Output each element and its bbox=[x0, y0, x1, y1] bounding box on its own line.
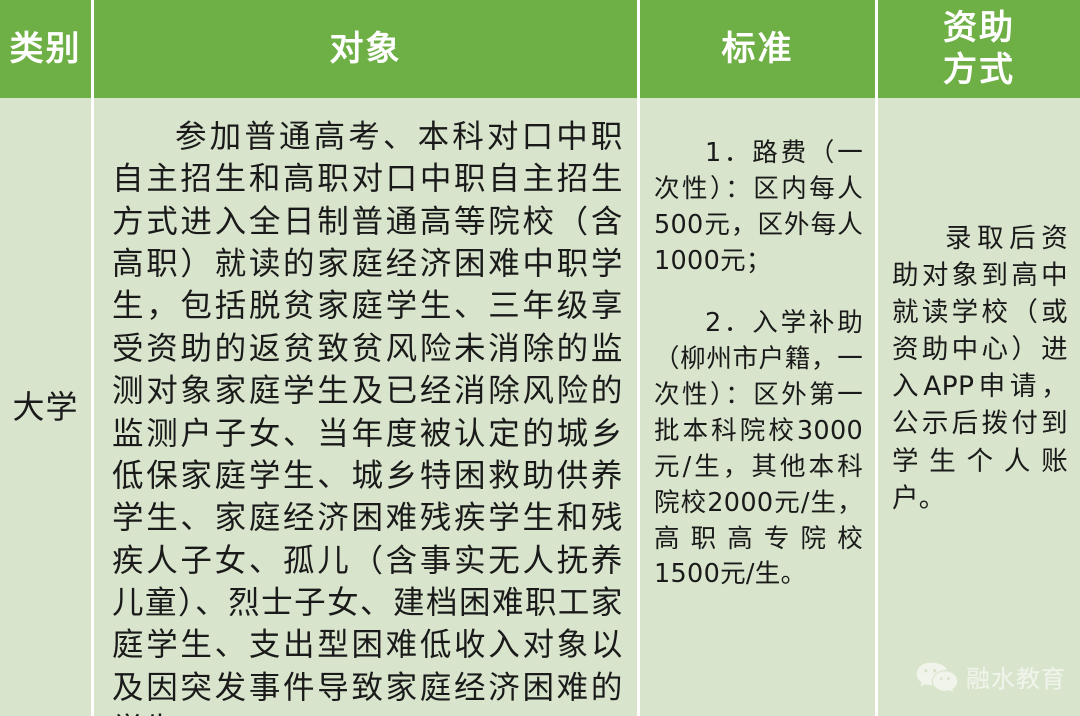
table-header-row: 类别 对象 标准 资助 方式 bbox=[0, 0, 1080, 98]
watermark: 融水教育 bbox=[916, 659, 1066, 694]
column-header-object-label: 对象 bbox=[330, 28, 402, 71]
cell-object: 参加普通高考、本科对口中职自主招生和高职对口中职自主招生方式进入全日制普通高等院… bbox=[94, 98, 637, 716]
column-header-standard-label: 标准 bbox=[722, 28, 794, 71]
column-header-category: 类别 bbox=[0, 0, 91, 98]
watermark-label: 融水教育 bbox=[966, 659, 1066, 694]
subsidy-table: 类别 对象 标准 资助 方式 大学 参加普通高考、本科对口中职自主招生和高职对口… bbox=[0, 0, 1080, 716]
column-header-category-label: 类别 bbox=[10, 28, 82, 71]
category-value: 大学 bbox=[12, 388, 78, 426]
column-header-standard: 标准 bbox=[640, 0, 875, 98]
wechat-icon bbox=[916, 661, 958, 693]
column-header-method: 资助 方式 bbox=[878, 0, 1080, 98]
cell-category: 大学 bbox=[0, 98, 91, 716]
cell-method: 录取后资助对象到高中就读学校（或资助中心）进入APP申请，公示后拨付到学生个人账… bbox=[878, 98, 1080, 716]
column-header-method-label: 资助 方式 bbox=[943, 7, 1015, 92]
wechat-icon-glyph bbox=[916, 661, 958, 693]
cell-standard: 1．路费（一次性）：区内每人500元，区外每人1000元； 2．入学补助（柳州市… bbox=[640, 98, 875, 716]
object-value: 参加普通高考、本科对口中职自主招生和高职对口中职自主招生方式进入全日制普通高等院… bbox=[94, 98, 637, 716]
standard-item-2: 2．入学补助（柳州市户籍，一次性）：区外第一批本科院校3000元/生，其他本科院… bbox=[654, 306, 863, 594]
method-value: 录取后资助对象到高中就读学校（或资助中心）进入APP申请，公示后拨付到学生个人账… bbox=[878, 98, 1080, 517]
column-header-object: 对象 bbox=[94, 0, 637, 98]
table-row: 大学 参加普通高考、本科对口中职自主招生和高职对口中职自主招生方式进入全日制普通… bbox=[0, 98, 1080, 716]
standard-item-1: 1．路费（一次性）：区内每人500元，区外每人1000元； bbox=[654, 136, 863, 280]
